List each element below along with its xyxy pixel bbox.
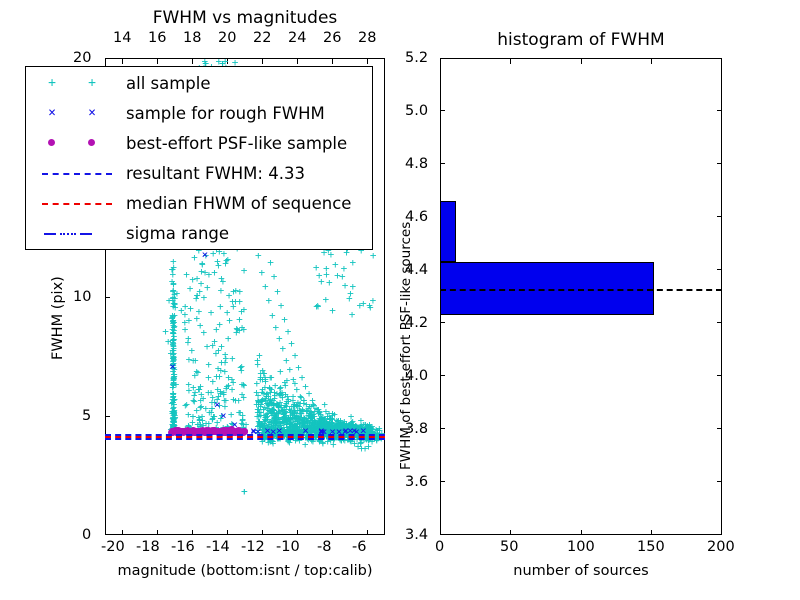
right-xtick-200: 200	[707, 539, 735, 555]
left-xtick-b0: -20	[101, 539, 125, 555]
histogram-bar	[440, 201, 456, 262]
left-xtick-b1: -18	[136, 539, 160, 555]
scatter-point: +	[273, 322, 280, 333]
scatter-point: +	[322, 294, 329, 305]
scatter-point: +	[208, 307, 215, 318]
scatter-point: +	[170, 256, 177, 267]
right-ytick-5-0: 5.0	[405, 103, 428, 119]
left-ytick-5: 5	[82, 408, 91, 424]
scatter-point: +	[174, 288, 181, 299]
left-xtick-t6: 26	[323, 30, 341, 46]
scatter-point: +	[240, 379, 247, 390]
scatter-point: +	[213, 324, 220, 335]
scatter-point: +	[277, 366, 284, 377]
scatter-point: +	[222, 357, 229, 368]
scatter-point: +	[288, 338, 295, 349]
scatter-point: +	[236, 314, 243, 325]
scatter-point: +	[240, 324, 247, 335]
scatter-point: +	[233, 285, 240, 296]
median-fhwm-line	[105, 436, 385, 438]
scatter-point: +	[276, 402, 283, 413]
right-xtick-50: 50	[500, 539, 518, 555]
legend-item-4[interactable]: median FHWM of sequence	[34, 191, 351, 215]
scatter-point: +	[349, 309, 356, 320]
scatter-point: +	[190, 382, 197, 393]
left-xtick-b6: -8	[317, 539, 331, 555]
scatter-point: +	[350, 281, 357, 292]
scatter-point: +	[216, 371, 223, 382]
scatter-point: +	[211, 267, 218, 278]
scatter-point: +	[203, 403, 210, 414]
figure-canvas: FWHM vs magnitudes FWHM (pix) 0 5 10 20 …	[0, 0, 800, 600]
legend-item-5[interactable]: sigma range	[34, 221, 229, 245]
left-xtick-t0: 14	[113, 30, 131, 46]
scatter-point: +	[267, 257, 274, 268]
scatter-point: +	[280, 343, 287, 354]
scatter-point: +	[217, 301, 224, 312]
left-xtick-t2: 18	[183, 30, 201, 46]
scatter-point: +	[271, 271, 278, 282]
legend-label-1: sample for rough FWHM	[120, 104, 325, 123]
legend-label-2: best-effort PSF-like sample	[120, 134, 347, 153]
scatter-point: +	[266, 295, 273, 306]
left-panel-title: FWHM vs magnitudes	[105, 8, 385, 28]
scatter-point: +	[232, 395, 239, 406]
right-ytick-4-0: 4.0	[405, 368, 428, 384]
histogram-median-line	[440, 289, 722, 291]
scatter-point: +	[189, 274, 196, 285]
legend-item-1[interactable]: ×× sample for rough FWHM	[34, 101, 325, 125]
scatter-point: +	[210, 411, 217, 422]
left-yaxis-title: FWHM (pix)	[50, 276, 66, 360]
scatter-point: +	[292, 350, 299, 361]
right-ytick-3-8: 3.8	[405, 421, 428, 437]
scatter-point: +	[329, 305, 336, 316]
scatter-point: +	[257, 374, 264, 385]
left-xtick-t7: 28	[358, 30, 376, 46]
scatter-point: +	[314, 300, 321, 311]
scatter-point: +	[281, 314, 288, 325]
left-xtick-t3: 20	[218, 30, 236, 46]
scatter-point: +	[196, 286, 203, 297]
scatter-point: +	[360, 298, 367, 309]
right-ytick-4-4: 4.4	[405, 262, 428, 278]
dot-marker-icon	[34, 133, 120, 153]
plus-marker-icon: ++	[34, 73, 120, 93]
scatter-point: +	[195, 367, 202, 378]
scatter-point: +	[194, 313, 201, 324]
scatter-point: +	[221, 395, 228, 406]
legend-item-0[interactable]: ++ all sample	[34, 71, 211, 95]
resultant-fwhm-line	[105, 434, 385, 436]
legend-item-3[interactable]: resultant FWHM: 4.33	[34, 161, 305, 185]
scatter-point: +	[230, 301, 237, 312]
scatter-point: +	[178, 305, 185, 316]
scatter-point: +	[269, 310, 276, 321]
left-ytick-10: 10	[73, 289, 91, 305]
scatter-point: +	[238, 365, 245, 376]
legend-label-3: resultant FWHM: 4.33	[120, 164, 305, 183]
scatter-point: +	[349, 257, 356, 268]
left-xtick-t4: 22	[253, 30, 271, 46]
scatter-point: +	[168, 348, 175, 359]
scatter-point: +	[274, 286, 281, 297]
right-ytick-3-4: 3.4	[405, 527, 428, 543]
right-xtick-0: 0	[435, 539, 444, 555]
dashed-line-icon-blue	[34, 163, 120, 183]
right-xtick-100: 100	[567, 539, 595, 555]
scatter-point: +	[257, 401, 264, 412]
legend-label-0: all sample	[120, 74, 211, 93]
scatter-point: +	[263, 389, 270, 400]
scatter-point: ×	[169, 361, 176, 372]
scatter-point: +	[332, 259, 339, 270]
scatter-point: +	[220, 276, 227, 287]
left-xtick-b7: -6	[352, 539, 366, 555]
scatter-point: +	[339, 271, 346, 282]
legend-item-2[interactable]: best-effort PSF-like sample	[34, 131, 347, 155]
scatter-point: +	[277, 382, 284, 393]
sigma-range-line-low	[105, 438, 385, 440]
histogram-data	[440, 58, 722, 535]
cross-marker-icon: ××	[34, 103, 120, 123]
scatter-point: +	[190, 411, 197, 422]
scatter-point: +	[205, 359, 212, 370]
scatter-point: +	[316, 270, 323, 281]
scatter-point: +	[367, 302, 374, 313]
dashed-line-icon-red	[34, 193, 120, 213]
scatter-point: +	[225, 372, 232, 383]
scatter-point: +	[183, 399, 190, 410]
scatter-point: +	[185, 333, 192, 344]
scatter-point: +	[222, 258, 229, 269]
scatter-point: +	[271, 390, 278, 401]
left-xtick-t1: 16	[148, 30, 166, 46]
histogram-bar-host	[440, 58, 722, 535]
dashdot-line-icon	[34, 223, 120, 243]
left-xtick-b4: -12	[241, 539, 265, 555]
legend-label-4: median FHWM of sequence	[120, 194, 351, 213]
scatter-point: +	[262, 281, 269, 292]
legend-box: ++ all sample ×× sample for rough FWHM b…	[25, 66, 373, 250]
scatter-point: +	[346, 293, 353, 304]
right-panel-title: histogram of FWHM	[440, 30, 722, 50]
scatter-point: +	[255, 250, 262, 261]
right-ytick-4-8: 4.8	[405, 156, 428, 172]
right-ytick-5-2: 5.2	[405, 50, 428, 66]
right-xaxis-label: number of sources	[440, 563, 722, 579]
legend-label-5: sigma range	[120, 224, 229, 243]
scatter-point: +	[192, 355, 199, 366]
scatter-point: +	[197, 381, 204, 392]
scatter-point: +	[229, 353, 236, 364]
left-xtick-b5: -10	[276, 539, 300, 555]
scatter-point: +	[229, 384, 236, 395]
right-ytick-4-2: 4.2	[405, 315, 428, 331]
scatter-point: ×	[202, 249, 209, 260]
left-xtick-b2: -16	[171, 539, 195, 555]
scatter-point: ×	[220, 410, 227, 421]
scatter-point: +	[225, 333, 232, 344]
scatter-point: +	[241, 265, 248, 276]
scatter-point: +	[165, 336, 172, 347]
left-xtick-b3: -14	[206, 539, 230, 555]
left-ytick-0: 0	[82, 527, 91, 543]
left-ytick-20: 20	[73, 50, 91, 66]
scatter-point: +	[241, 486, 248, 497]
scatter-point: +	[285, 326, 292, 337]
right-xtick-150: 150	[637, 539, 665, 555]
scatter-point: +	[256, 350, 263, 361]
scatter-point: +	[278, 300, 285, 311]
scatter-point: +	[234, 324, 241, 335]
right-ytick-4-6: 4.6	[405, 209, 428, 225]
right-ytick-3-6: 3.6	[405, 474, 428, 490]
scatter-point: +	[218, 341, 225, 352]
scatter-point: +	[182, 317, 189, 328]
scatter-point: +	[370, 250, 377, 261]
scatter-point: +	[259, 267, 266, 278]
left-xtick-t5: 24	[288, 30, 306, 46]
scatter-point: +	[326, 277, 333, 288]
left-xaxis-label: magnitude (bottom:isnt / top:calib)	[95, 563, 395, 579]
